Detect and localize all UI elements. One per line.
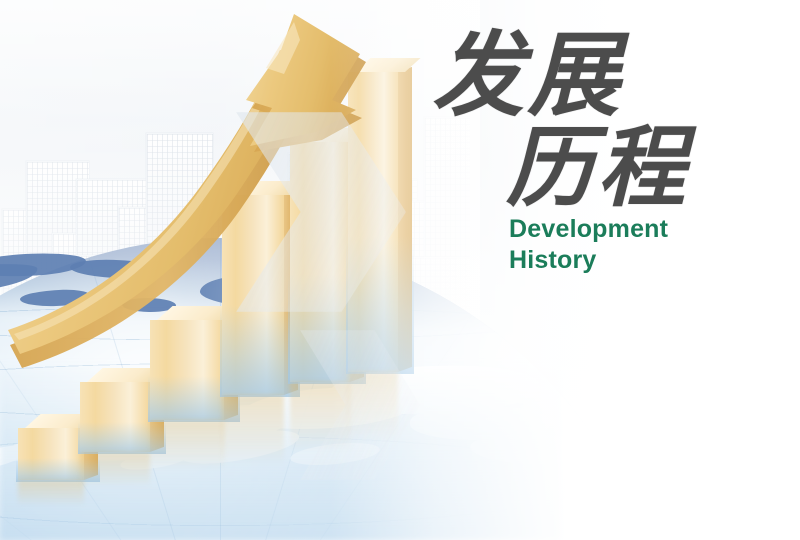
chart-bar	[18, 428, 84, 480]
chart-bar	[150, 320, 224, 420]
bar-reflection	[150, 420, 224, 470]
title-chinese-line2: 历程	[506, 126, 689, 214]
bar-reflection	[222, 395, 284, 465]
bar-reflection	[80, 452, 150, 487]
chart-bar	[80, 382, 150, 452]
title-english: Development History	[509, 214, 668, 275]
title-chinese-line1: 发展	[432, 30, 623, 122]
promo-banner: 发展 历程 Development History	[0, 0, 800, 540]
bar-reflection	[18, 480, 84, 506]
